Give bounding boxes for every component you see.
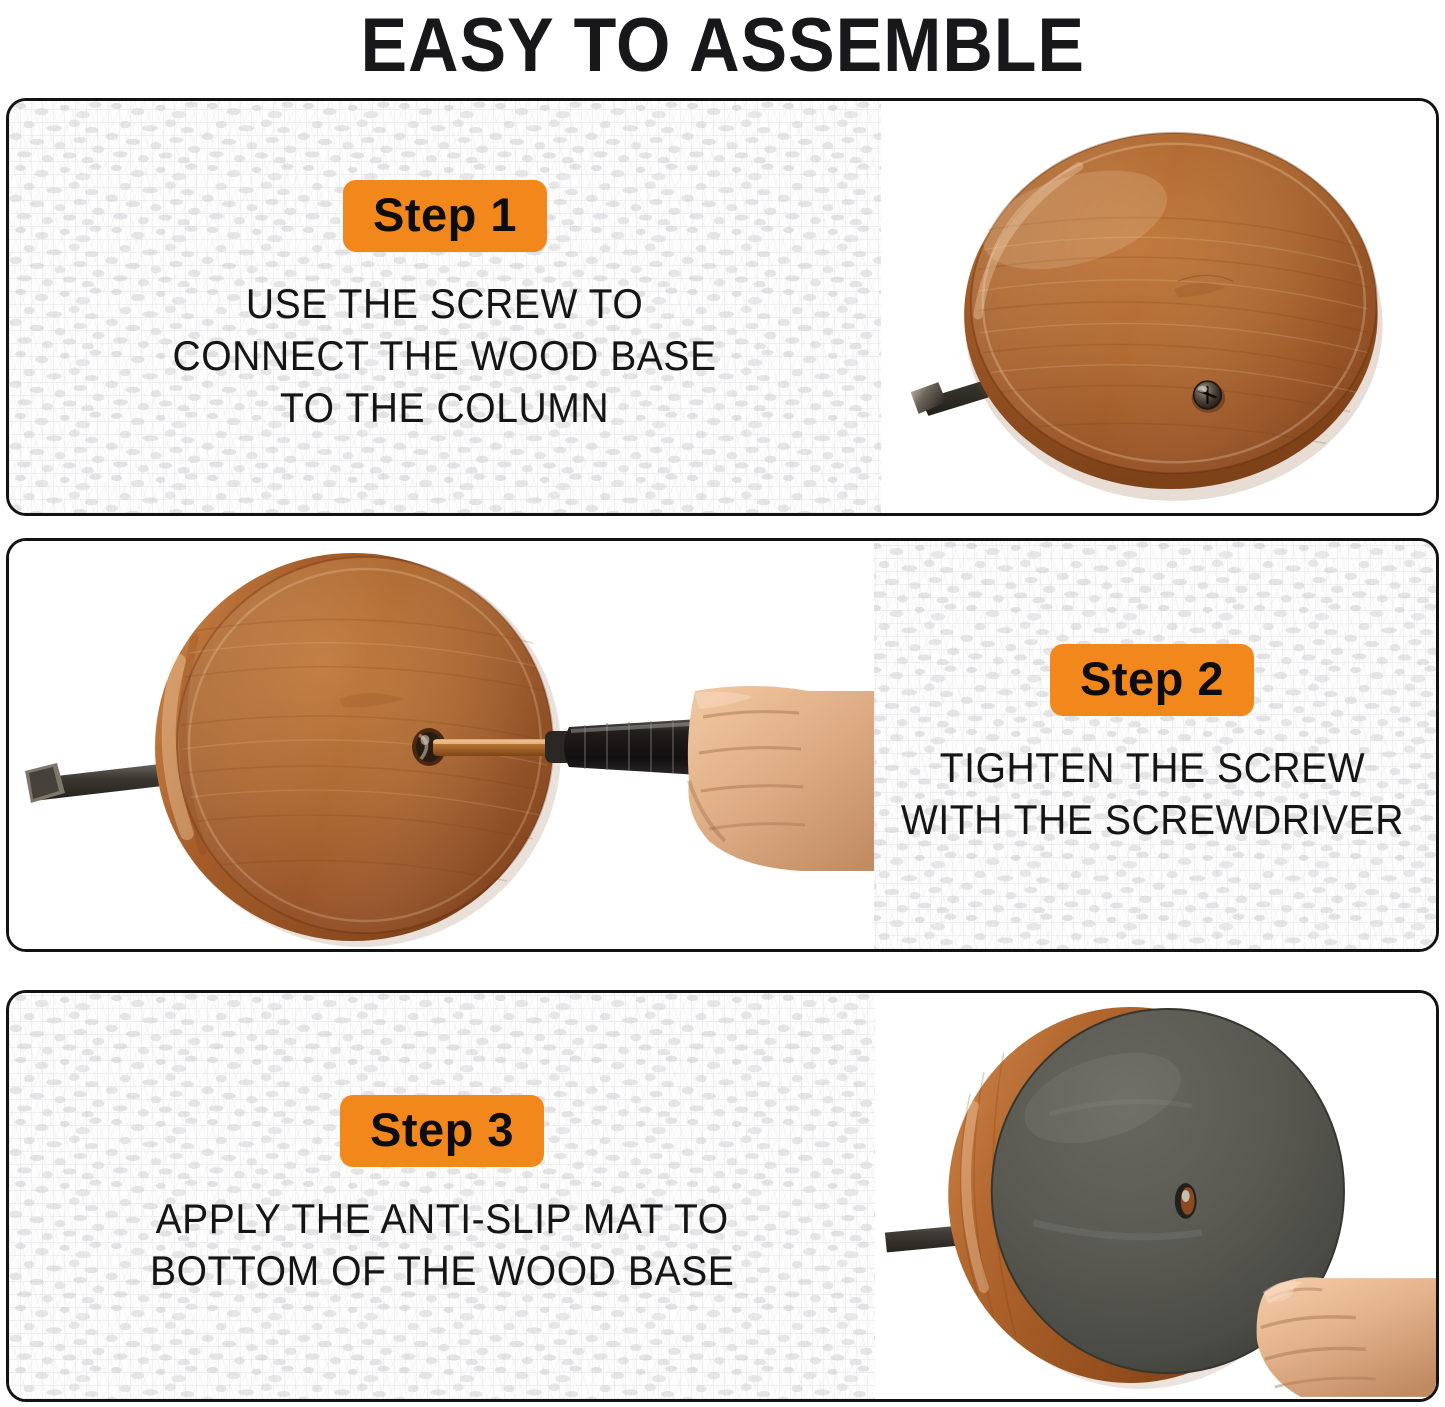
page-header: EASY TO ASSEMBLE — [0, 0, 1445, 92]
step-panel-1: Step 1 USE THE SCREW TO CONNECT THE WOOD… — [6, 98, 1439, 516]
step-3-instruction: APPLY THE ANTI-SLIP MAT TO BOTTOM OF THE… — [150, 1193, 734, 1297]
step-panel-2: Step 2 TIGHTEN THE SCREW WITH THE SCREWD… — [6, 538, 1439, 952]
step-panel-3: Step 3 APPLY THE ANTI-SLIP MAT TO BOTTOM… — [6, 990, 1439, 1402]
step-2-photo — [9, 541, 874, 949]
step-3-text-column: Step 3 APPLY THE ANTI-SLIP MAT TO BOTTOM… — [9, 993, 875, 1399]
page-title: EASY TO ASSEMBLE — [360, 8, 1084, 84]
step-2-instruction: TIGHTEN THE SCREW WITH THE SCREWDRIVER — [900, 742, 1403, 846]
hand — [688, 686, 874, 871]
mat-center-hole — [1175, 1183, 1197, 1219]
step-3-badge: Step 3 — [340, 1095, 544, 1167]
step-1-badge: Step 1 — [343, 180, 547, 252]
step-2-text-column: Step 2 TIGHTEN THE SCREW WITH THE SCREWD… — [868, 541, 1436, 949]
step-3-photo — [875, 993, 1436, 1399]
step-1-instruction: USE THE SCREW TO CONNECT THE WOOD BASE T… — [173, 278, 717, 434]
anti-slip-mat-application-illustration — [875, 993, 1436, 1399]
wood-base-disc-illustration — [881, 101, 1436, 513]
step-2-badge: Step 2 — [1050, 644, 1254, 716]
step-1-photo — [881, 101, 1436, 513]
screwdriver-tightening-illustration — [9, 541, 874, 949]
hand — [1257, 1277, 1436, 1396]
step-1-text-column: Step 1 USE THE SCREW TO CONNECT THE WOOD… — [9, 101, 881, 513]
